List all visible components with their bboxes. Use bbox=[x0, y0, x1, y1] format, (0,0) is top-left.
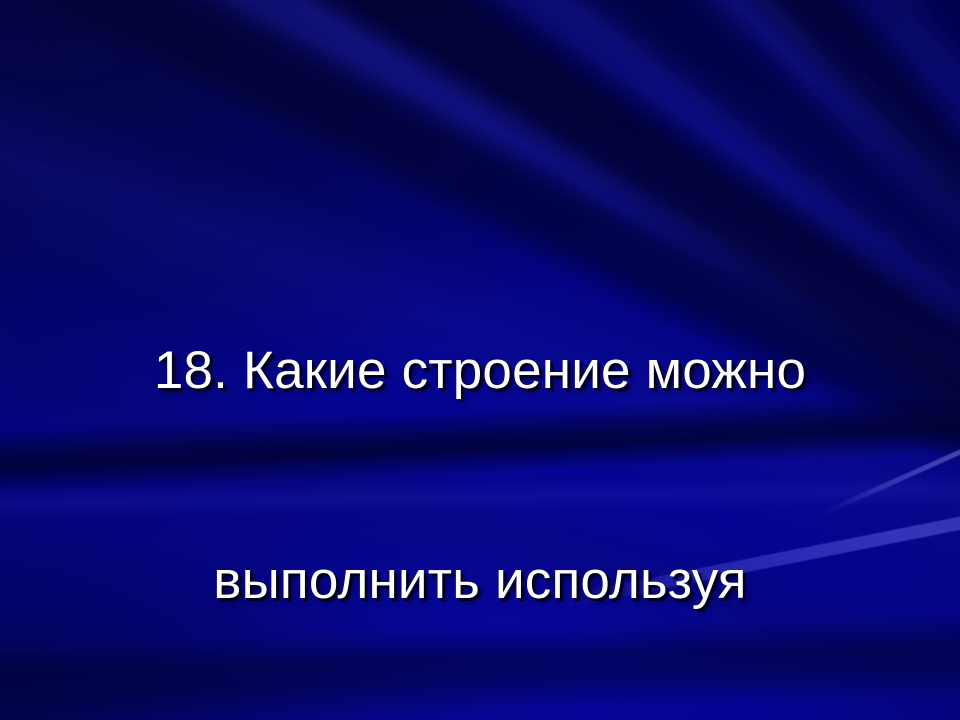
slide-title: 18. Какие строение можно выполнить испол… bbox=[0, 196, 960, 720]
slide-title-line-2: выполнить используя bbox=[0, 546, 960, 616]
slide-title-line-1: 18. Какие строение можно bbox=[0, 336, 960, 406]
slide-canvas: 18. Какие строение можно выполнить испол… bbox=[0, 0, 960, 720]
